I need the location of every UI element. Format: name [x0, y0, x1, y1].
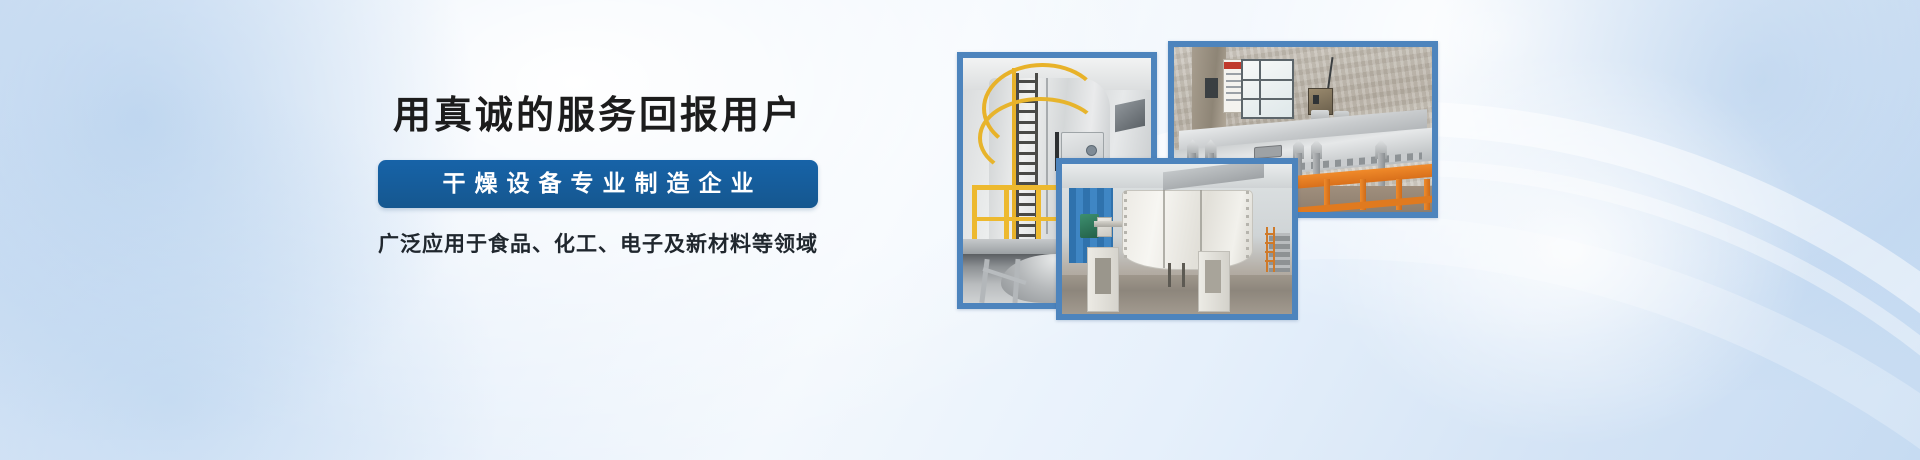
- banner-copy: 用真诚的服务回报用户 干燥设备专业制造企业 广泛应用于食品、化工、电子及新材料等…: [293, 96, 903, 255]
- hero-banner: 用真诚的服务回报用户 干燥设备专业制造企业 广泛应用于食品、化工、电子及新材料等…: [0, 0, 1920, 460]
- banner-headline: 用真诚的服务回报用户: [293, 96, 903, 134]
- banner-subline: 广泛应用于食品、化工、电子及新材料等领域: [293, 234, 903, 255]
- photo-ribbon-mixer-image: [1062, 164, 1292, 314]
- banner-pill-label: 干燥设备专业制造企业: [378, 160, 818, 208]
- background-glow-top-right: [1400, 0, 1920, 390]
- photo-ribbon-mixer: [1056, 158, 1298, 320]
- orange-step-ladder: [1264, 227, 1276, 272]
- mixer-drum: [1122, 190, 1253, 270]
